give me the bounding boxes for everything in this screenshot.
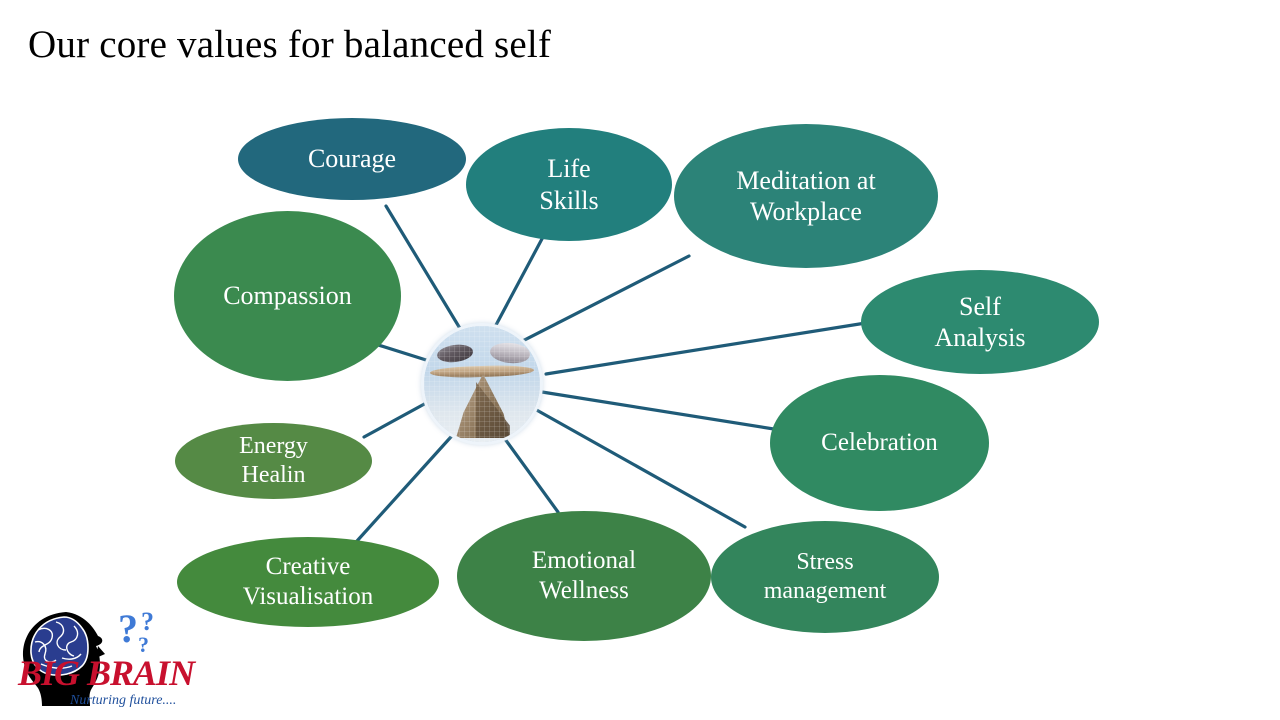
connector-stress-management: [533, 408, 745, 527]
connector-courage: [386, 206, 470, 345]
slide-canvas: Our core values for balanced self Courag…: [0, 0, 1280, 720]
balance-plank: [430, 365, 534, 379]
node-energy-healin[interactable]: Energy Healin: [175, 423, 372, 499]
node-life-skills[interactable]: Life Skills: [466, 128, 672, 241]
balance-fulcrum-stone: [456, 374, 510, 438]
node-label-creative-visualisation: Creative Visualisation: [243, 552, 373, 612]
node-label-life-skills: Life Skills: [539, 153, 598, 215]
logo-tagline: Nurturing future....: [70, 693, 176, 709]
balance-stone-right: [489, 341, 531, 365]
node-label-stress-management: Stress management: [764, 548, 887, 606]
node-label-energy-healin: Energy Healin: [239, 432, 308, 490]
center-hub-image: [424, 326, 540, 442]
node-label-meditation-at-workplace: Meditation at Workplace: [736, 165, 875, 227]
node-label-compassion: Compassion: [223, 280, 352, 311]
connector-self-analysis: [546, 322, 872, 374]
node-stress-management[interactable]: Stress management: [711, 521, 939, 633]
page-title: Our core values for balanced self: [28, 22, 551, 69]
node-label-celebration: Celebration: [821, 428, 938, 458]
node-emotional-wellness[interactable]: Emotional Wellness: [457, 511, 711, 641]
connector-life-skills: [488, 222, 551, 340]
big-brain-logo: ? ? ? BIG BRAIN Nurturing future....: [8, 608, 208, 716]
balanced-stones-photo: [424, 326, 540, 442]
node-creative-visualisation[interactable]: Creative Visualisation: [177, 537, 439, 627]
node-meditation-at-workplace[interactable]: Meditation at Workplace: [674, 124, 938, 268]
connector-celebration: [542, 392, 780, 430]
balance-fulcrum-shadow: [476, 382, 510, 438]
node-celebration[interactable]: Celebration: [770, 375, 989, 511]
question-mark-large-icon: ?: [118, 608, 138, 651]
balance-stone-left: [436, 343, 474, 365]
node-courage[interactable]: Courage: [238, 118, 466, 200]
node-label-emotional-wellness: Emotional Wellness: [532, 546, 636, 606]
node-label-self-analysis: Self Analysis: [935, 291, 1026, 353]
node-label-courage: Courage: [308, 143, 396, 174]
node-compassion[interactable]: Compassion: [174, 211, 401, 381]
node-self-analysis[interactable]: Self Analysis: [861, 270, 1099, 374]
logo-wordmark: BIG BRAIN: [18, 652, 194, 694]
